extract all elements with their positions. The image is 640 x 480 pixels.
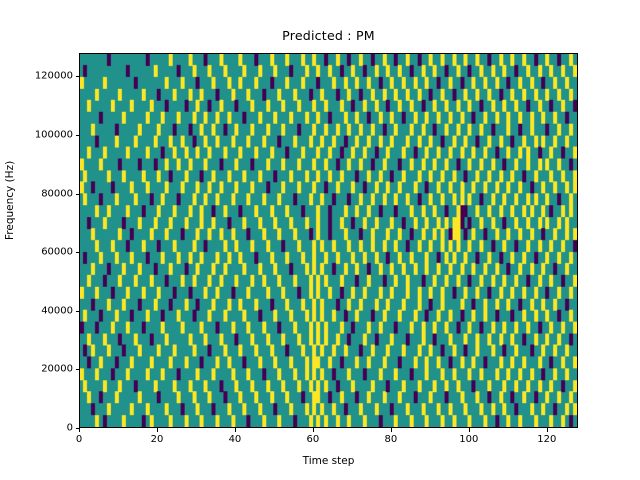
x-tick-mark: [469, 428, 470, 432]
y-tick-label: 0: [67, 423, 73, 434]
x-tick-label: 60: [307, 434, 320, 445]
x-tick-label: 0: [76, 434, 82, 445]
y-tick-label: 20000: [41, 364, 73, 375]
x-tick-mark: [235, 428, 236, 432]
x-tick-mark: [313, 428, 314, 432]
y-tick-label: 80000: [41, 188, 73, 199]
y-tick-label: 120000: [35, 71, 73, 82]
x-tick-mark: [547, 428, 548, 432]
heatmap-axes[interactable]: [79, 53, 578, 428]
x-tick-label: 40: [229, 434, 242, 445]
heatmap-canvas[interactable]: [80, 54, 577, 427]
x-tick-label: 120: [537, 434, 556, 445]
matplotlib-figure: Predicted : PM 0200004000060000800001000…: [0, 0, 640, 480]
y-tick-label: 60000: [41, 247, 73, 258]
chart-title: Predicted : PM: [79, 28, 578, 43]
x-tick-mark: [391, 428, 392, 432]
x-tick-mark: [157, 428, 158, 432]
y-tick-label: 100000: [35, 130, 73, 141]
x-tick-label: 100: [459, 434, 478, 445]
x-tick-mark: [79, 428, 80, 432]
y-tick-label: 40000: [41, 305, 73, 316]
x-axis-label: Time step: [79, 455, 578, 467]
y-tick-mark: [76, 428, 80, 429]
y-axis-label: Frequency (Hz): [4, 161, 16, 240]
x-tick-label: 80: [385, 434, 398, 445]
x-tick-label: 20: [151, 434, 164, 445]
